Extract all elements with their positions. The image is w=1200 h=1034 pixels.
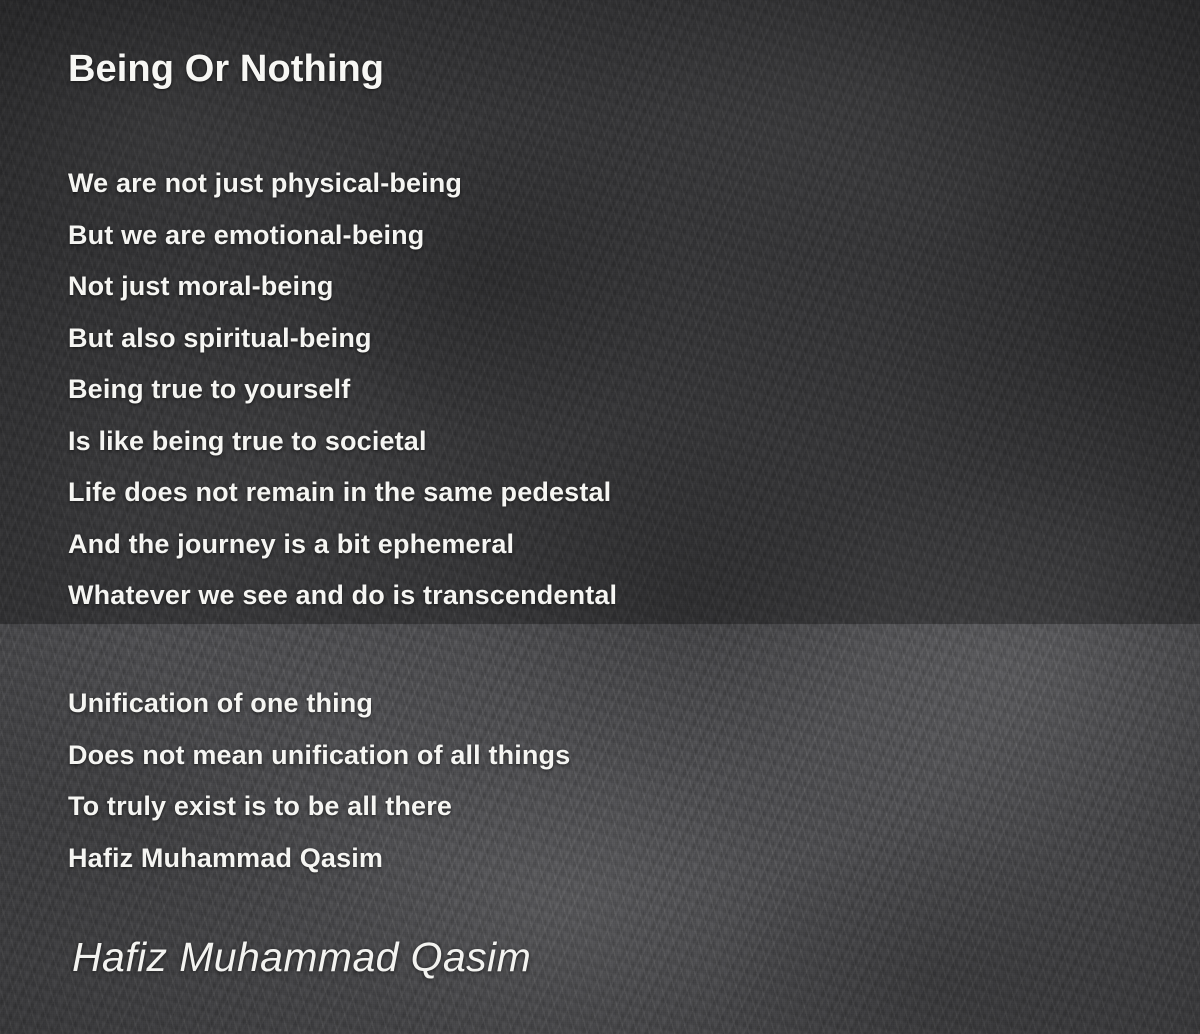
- poem-line: We are not just physical-being: [68, 158, 617, 210]
- poem-line: Not just moral-being: [68, 261, 617, 313]
- poem-line: And the journey is a bit ephemeral: [68, 519, 617, 571]
- poem-line: But also spiritual-being: [68, 313, 617, 365]
- poem-title: Being Or Nothing: [68, 48, 384, 91]
- poem-line: Does not mean unification of all things: [68, 730, 570, 782]
- poem-line: Being true to yourself: [68, 364, 617, 416]
- poem-stanza-2: Unification of one thing Does not mean u…: [68, 678, 570, 884]
- author-signature: Hafiz Muhammad Qasim: [72, 934, 531, 981]
- poem-line: To truly exist is to be all there: [68, 781, 570, 833]
- poem-line: Whatever we see and do is transcendental: [68, 570, 617, 622]
- poem-image-canvas: Being Or Nothing We are not just physica…: [0, 0, 1200, 1034]
- poem-line: Life does not remain in the same pedesta…: [68, 467, 617, 519]
- poem-line: Hafiz Muhammad Qasim: [68, 833, 570, 885]
- poem-stanza-1: We are not just physical-being But we ar…: [68, 158, 617, 622]
- poem-line: Is like being true to societal: [68, 416, 617, 468]
- poem-line: But we are emotional-being: [68, 210, 617, 262]
- poem-content: Being Or Nothing We are not just physica…: [0, 0, 1200, 1034]
- poem-line: Unification of one thing: [68, 678, 570, 730]
